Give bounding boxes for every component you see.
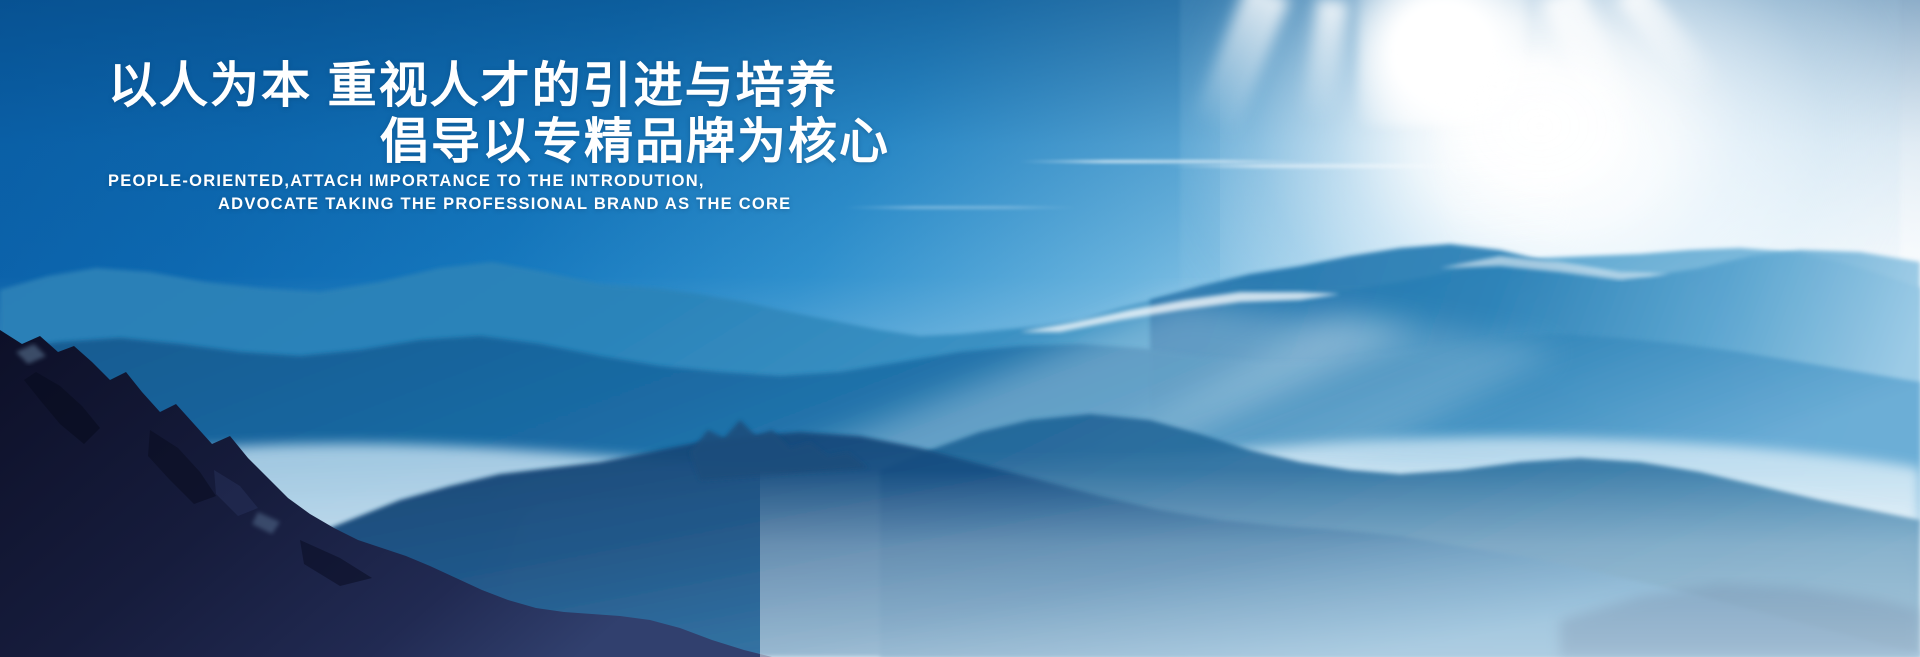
hero-banner: 以人为本 重视人才的引进与培养 倡导以专精品牌为核心 PEOPLE-ORIENT… [0,0,1920,657]
mist-veil [760,470,1920,657]
mountain-landscape [0,0,1920,657]
